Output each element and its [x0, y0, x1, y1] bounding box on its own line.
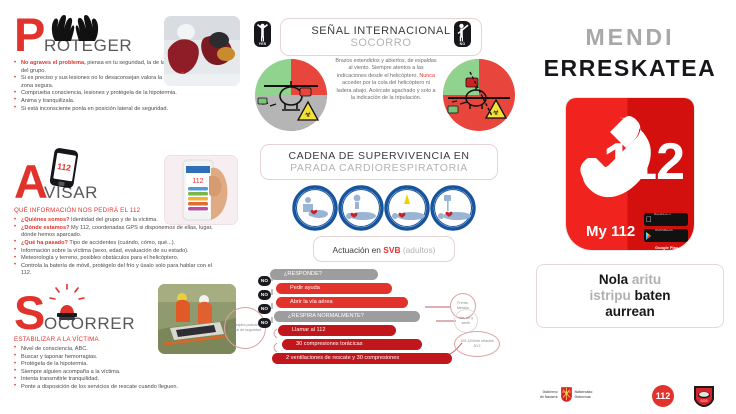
- infographic-page: P ROTEGER No agraves el problema, piensa…: [0, 0, 736, 414]
- emergency-112-logo: 112: [652, 385, 674, 407]
- yes-badge-label: YES: [254, 42, 271, 46]
- shield-label: SOS: [700, 399, 708, 403]
- list-item: Buscar y taponar hemorragias.: [14, 354, 226, 362]
- list-item: Información sobre la víctima (sexo, edad…: [14, 248, 220, 256]
- flow-step-responde: ¿RESPONDE?: [270, 269, 378, 280]
- avisar-bullets: ¿Quiénes somos? Identidad del grupo y de…: [14, 217, 220, 278]
- person-arms-up-icon: [254, 21, 271, 43]
- my112-app-logo: 112 My 112  Disponible en elApp Store D…: [566, 98, 694, 250]
- svb-header-post: (adultos): [401, 245, 436, 255]
- flow-step-respira: ¿RESPIRA NORMALMENTE?: [274, 311, 420, 322]
- google-play-icon: [646, 227, 653, 245]
- survival-chain-icons: [289, 184, 479, 232]
- gobierno-navarra-logo: Gobierno de Navarra Nafarroako Gobernua: [540, 387, 592, 402]
- siren-icon: [47, 284, 87, 320]
- flow-no-chip-3: NO: [258, 304, 271, 314]
- slogan-w1: Nola: [599, 272, 628, 287]
- signal-title-line2: SOCORRO: [287, 37, 475, 49]
- slogan-w4: baten: [635, 288, 671, 303]
- svb-flowchart: ¿RESPONDE? NO Pedir ayuda NO Abrir la ví…: [248, 267, 520, 377]
- flow-no-chip-4: NO: [258, 318, 271, 328]
- svg-text:112: 112: [192, 178, 203, 185]
- googleplay-big: Google Play: [655, 245, 678, 250]
- app-number: 112: [603, 136, 684, 188]
- svb-header-hl: SVB: [383, 245, 400, 255]
- list-item: Intenta transmitirle tranquilidad.: [14, 376, 226, 384]
- navarra-shield-icon: [561, 387, 572, 402]
- signal-header-row: YES SEÑAL INTERNACIONAL SOCORRO NO: [248, 10, 520, 60]
- list-item: Comprueba consciencia, lesiones y protég…: [14, 90, 200, 98]
- title-mendi: MENDI: [524, 24, 736, 51]
- list-item: ¿Qué ha pasado? Tipo de accidentes (cuán…: [14, 240, 220, 248]
- flow-step-llamar-112: Llamar al 112: [278, 325, 396, 336]
- photo-stretcher-rescue: [158, 284, 236, 354]
- title-erreskatea: ERRESKATEA: [524, 55, 736, 82]
- slogan-w2: aritu: [632, 272, 661, 287]
- svg-text:☣: ☣: [492, 108, 499, 117]
- signal-nunca-word: Nunca: [419, 73, 435, 79]
- signal-title-pill: SEÑAL INTERNACIONAL SOCORRO: [280, 18, 482, 56]
- list-item: ¿Dónde estamos? My 112, coordenadas GPS …: [14, 225, 220, 240]
- right-column: MENDI ERRESKATEA 112 My 112  Disponible…: [524, 0, 736, 414]
- googleplay-small: DISPONIBLE EN: [655, 230, 673, 232]
- gov-left-line2: de Navarra: [540, 395, 558, 399]
- gov-right-line1: Nafarroako: [575, 390, 593, 394]
- chain-title-line1: CADENA DE SUPERVIVENCIA EN: [265, 150, 493, 162]
- no-badge-label: NO: [454, 42, 471, 46]
- yes-badge: YES: [254, 21, 271, 47]
- helicopter-approach-ok-diagram: ☣: [252, 58, 330, 132]
- list-item: Siempre alguien acompaña a la víctima.: [14, 369, 226, 377]
- emergency-112-label: 112: [656, 391, 671, 401]
- flow-step-via-aerea: Abrir la vía aérea: [276, 297, 408, 308]
- list-item: Meteorología y terreno, posibles obstácu…: [14, 255, 220, 263]
- section-proteger: P ROTEGER No agraves el problema, piensa…: [14, 14, 240, 113]
- slogan-box: Nola aritu istripu baten aurrean: [536, 264, 724, 328]
- googleplay-badge[interactable]: DISPONIBLE ENGoogle Play: [644, 229, 688, 242]
- list-item: Protégela de la hipotermia.: [14, 361, 226, 369]
- left-column: P ROTEGER No agraves el problema, piensa…: [14, 14, 240, 391]
- no-badge: NO: [454, 21, 471, 47]
- list-item: Ponte a disposición de los servicios de …: [14, 384, 226, 392]
- rescue-shield-logo: SOS: [692, 384, 716, 408]
- list-item: Anima y tranquilízala.: [14, 98, 200, 106]
- list-item: Si está inconsciente ponla en posición l…: [14, 106, 200, 114]
- signal-title-line1: SEÑAL INTERNACIONAL: [287, 25, 475, 37]
- footer-logos: Gobierno de Navarra Nafarroako Gobernua …: [540, 383, 730, 409]
- note-ritmo-compresiones: 100-120/min relación 30:2: [454, 331, 500, 357]
- flow-step-ventilaciones: 2 ventilaciones de rescate y 30 compresi…: [272, 353, 452, 364]
- socorrer-initial: S: [14, 290, 44, 336]
- app-name: My 112: [586, 223, 635, 240]
- apple-icon: : [646, 215, 652, 224]
- section-socorrer: S OCORRER ESTABILIZAR A LA VÍCTIMA Nivel…: [14, 292, 240, 392]
- svb-header-pill: Actuación en SVB (adultos): [313, 236, 455, 262]
- proteger-initial: P: [14, 12, 44, 58]
- slogan-w5: aurrean: [605, 304, 655, 319]
- gov-right-line2: Gobernua: [575, 395, 593, 399]
- svb-header-pre: Actuación en: [333, 245, 384, 255]
- hands-icon: [49, 14, 101, 42]
- appstore-small: Disponible en el: [654, 214, 670, 216]
- person-one-arm-up-icon: [454, 21, 471, 43]
- signal-content-row: ☣ Brazos extendidos y abiertos, de espal…: [248, 56, 520, 136]
- section-avisar: A VISAR 112 QUÉ INFORMACIÓN NOS PEDIRÁ E…: [14, 161, 240, 278]
- signal-paragraph-2: acceder por la cola del helicóptero ni l…: [337, 80, 436, 101]
- chain-title-line2: PARADA CARDIORESPIRATORIA: [265, 162, 493, 174]
- helicopter-approach-no-diagram: ☣: [440, 58, 518, 132]
- note-ver-oir-sentir: Ver, oír y sentir: [454, 309, 478, 333]
- photo-hand-phone: 112: [164, 155, 238, 225]
- chain-title-pill: CADENA DE SUPERVIVENCIA EN PARADA CARDIO…: [260, 144, 498, 180]
- slogan-w3: istripu: [589, 288, 630, 303]
- middle-column: YES SEÑAL INTERNACIONAL SOCORRO NO: [248, 10, 520, 377]
- flow-no-chip-1: NO: [258, 276, 271, 286]
- avisar-initial: A: [14, 159, 47, 205]
- svg-text:☣: ☣: [304, 110, 311, 119]
- flow-step-pedir-ayuda: Pedir ayuda: [276, 283, 392, 294]
- list-item: Controla la batería de móvil, protégelo …: [14, 263, 220, 278]
- flow-step-compresiones: 30 compresiones torácicas: [282, 339, 422, 350]
- signal-paragraph: Brazos extendidos y abiertos, de espalda…: [334, 58, 438, 102]
- gov-left-line1: Gobierno: [540, 390, 558, 394]
- flow-no-chip-2: NO: [258, 290, 271, 300]
- photo-snow-rescue: [164, 16, 240, 86]
